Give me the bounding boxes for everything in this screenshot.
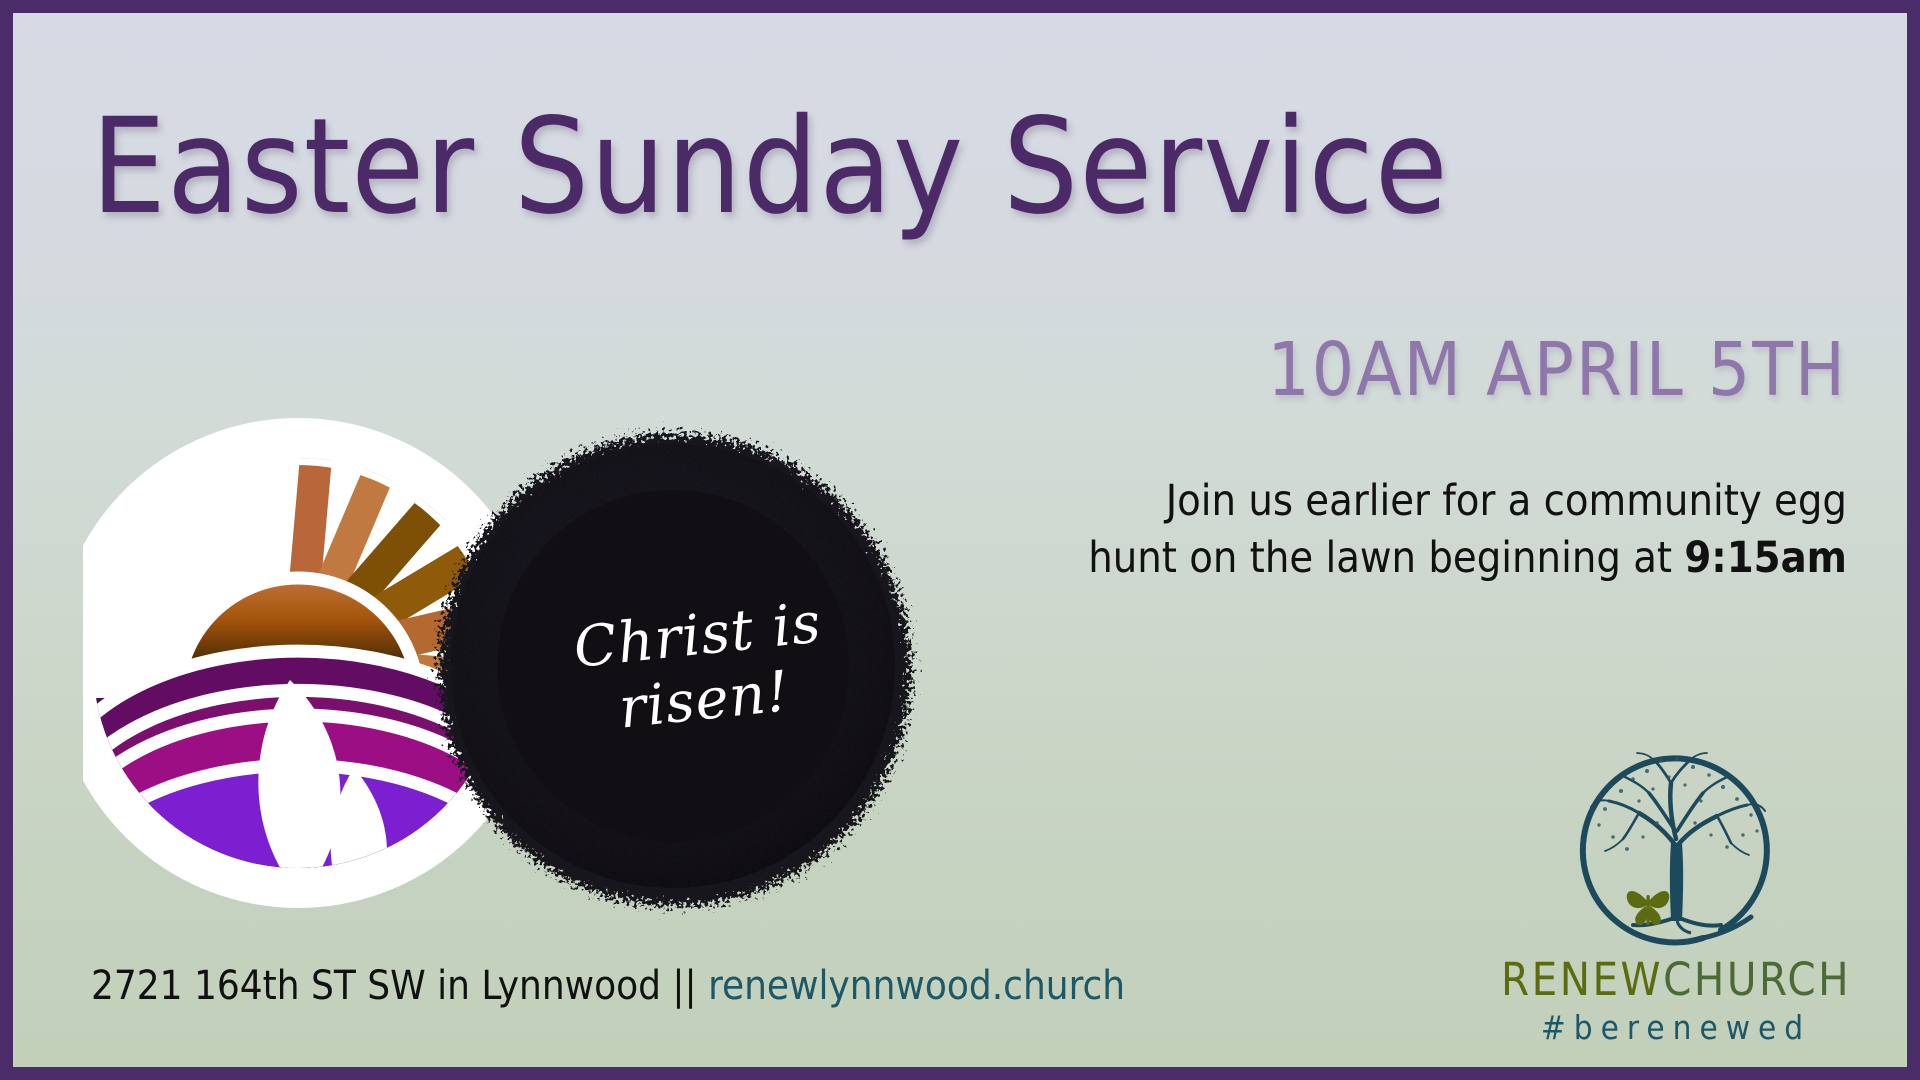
- website-link[interactable]: renewlynnwood.church: [708, 963, 1125, 1009]
- blurb-line-1: Join us earlier for a community egg: [1166, 476, 1847, 526]
- poster-canvas: Easter Sunday Service: [0, 0, 1920, 1080]
- address-line: 2721 164th ST SW in Lynnwood || renewlyn…: [91, 963, 1125, 1009]
- tree-in-circle-icon: [1561, 731, 1791, 961]
- page-title: Easter Sunday Service: [91, 101, 1831, 233]
- brand-name-church: CHURCH: [1663, 953, 1851, 1006]
- blurb-line-2-prefix: hunt on the lawn beginning at: [1088, 533, 1684, 583]
- brand-wordmark: RENEWCHURCH: [1501, 957, 1851, 1002]
- brand-name-renew: RENEW: [1501, 953, 1663, 1006]
- egg-hunt-time: 9:15am: [1684, 533, 1847, 583]
- stone-rolled-away-orb-icon: [423, 398, 933, 938]
- street-address: 2721 164th ST SW in Lynnwood ||: [91, 963, 708, 1009]
- event-time-date: 10AM APRIL 5TH: [967, 333, 1847, 407]
- event-details-column: 10AM APRIL 5TH Join us earlier for a com…: [967, 333, 1847, 587]
- brand-tagline: #berenewed: [1501, 1008, 1851, 1047]
- renew-church-logo: RENEWCHURCH #berenewed: [1501, 731, 1851, 1047]
- event-blurb: Join us earlier for a community egg hunt…: [967, 473, 1847, 587]
